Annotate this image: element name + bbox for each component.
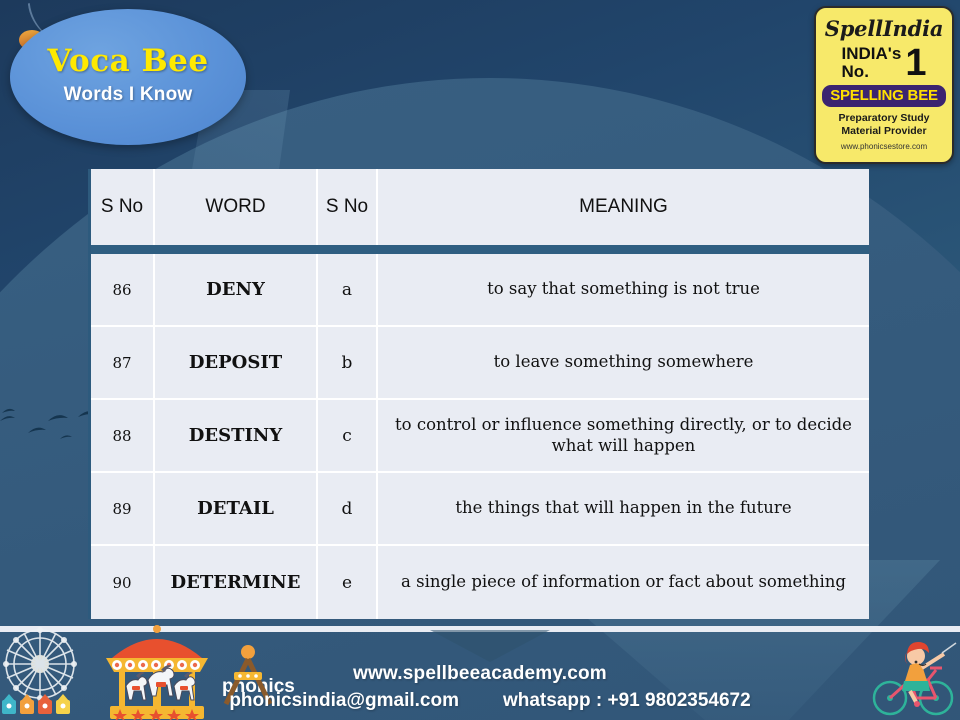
cell-letter: e [318,546,378,619]
cell-sno: 89 [91,473,155,544]
badge-rank-number: 1 [905,46,926,80]
badge-rank-row: INDIA's No. 1 [821,45,947,81]
footer-email[interactable]: phonicsindia@gmail.com [229,690,459,712]
cell-letter: b [318,327,378,398]
cell-letter: c [318,400,378,471]
cell-word: DENY [155,254,318,325]
cell-meaning: to say that something is not true [378,254,869,325]
badge-brand-name: SpellIndia [825,16,944,41]
badge-indias-text: INDIA's [842,45,902,63]
badge-rank-label: INDIA's No. [842,45,902,81]
cell-word: DETAIL [155,473,318,544]
cell-meaning: to control or influence something direct… [378,400,869,471]
table-row: 88 DESTINY c to control or influence som… [91,400,869,473]
words-table: S No WORD S No MEANING 86 DENY a to say … [88,169,869,619]
column-header-word: WORD [155,169,318,245]
cell-sno: 88 [91,400,155,471]
slide-canvas: Voca Bee Words I Know SpellIndia INDIA's… [0,0,960,720]
spellindia-badge: SpellIndia INDIA's No. 1 SPELLING BEE Pr… [814,6,954,164]
footer-whatsapp[interactable]: whatsapp : +91 9802354672 [503,690,751,712]
cell-word: DEPOSIT [155,327,318,398]
cell-meaning: a single piece of information or fact ab… [378,546,869,619]
table-row: 86 DENY a to say that something is not t… [91,254,869,327]
cell-word: DETERMINE [155,546,318,619]
table-row: 90 DETERMINE e a single piece of informa… [91,546,869,619]
table-row: 89 DETAIL d the things that will happen … [91,473,869,546]
cell-letter: a [318,254,378,325]
badge-tagline: Preparatory Study Material Provider [819,112,949,138]
table-header-separator [88,245,869,254]
table-header-row: S No WORD S No MEANING [88,169,869,245]
column-header-sno2: S No [318,169,378,245]
footer-notch-shape [430,630,550,662]
voca-bee-logo: Voca Bee Words I Know [10,9,246,145]
cell-word: DESTINY [155,400,318,471]
table-body: 86 DENY a to say that something is not t… [88,254,869,619]
footer-contact-row: phonicsindia@gmail.com whatsapp : +91 98… [0,690,960,712]
cell-meaning: the things that will happen in the futur… [378,473,869,544]
logo-subtitle: Words I Know [64,84,193,106]
cell-sno: 87 [91,327,155,398]
footer-contact-block: www.spellbeeacademy.com phonicsindia@gma… [0,663,960,712]
column-header-sno: S No [91,169,155,245]
cell-sno: 90 [91,546,155,619]
badge-spelling-bee-pill: SPELLING BEE [822,85,946,107]
badge-no-text: No. [842,63,902,81]
badge-url: www.phonicsestore.com [841,142,927,151]
cell-sno: 86 [91,254,155,325]
column-header-meaning: MEANING [378,169,869,245]
table-row: 87 DEPOSIT b to leave something somewher… [91,327,869,400]
cell-letter: d [318,473,378,544]
logo-title: Voca Bee [47,44,208,78]
footer-website[interactable]: www.spellbeeacademy.com [0,663,960,685]
cell-meaning: to leave something somewhere [378,327,869,398]
